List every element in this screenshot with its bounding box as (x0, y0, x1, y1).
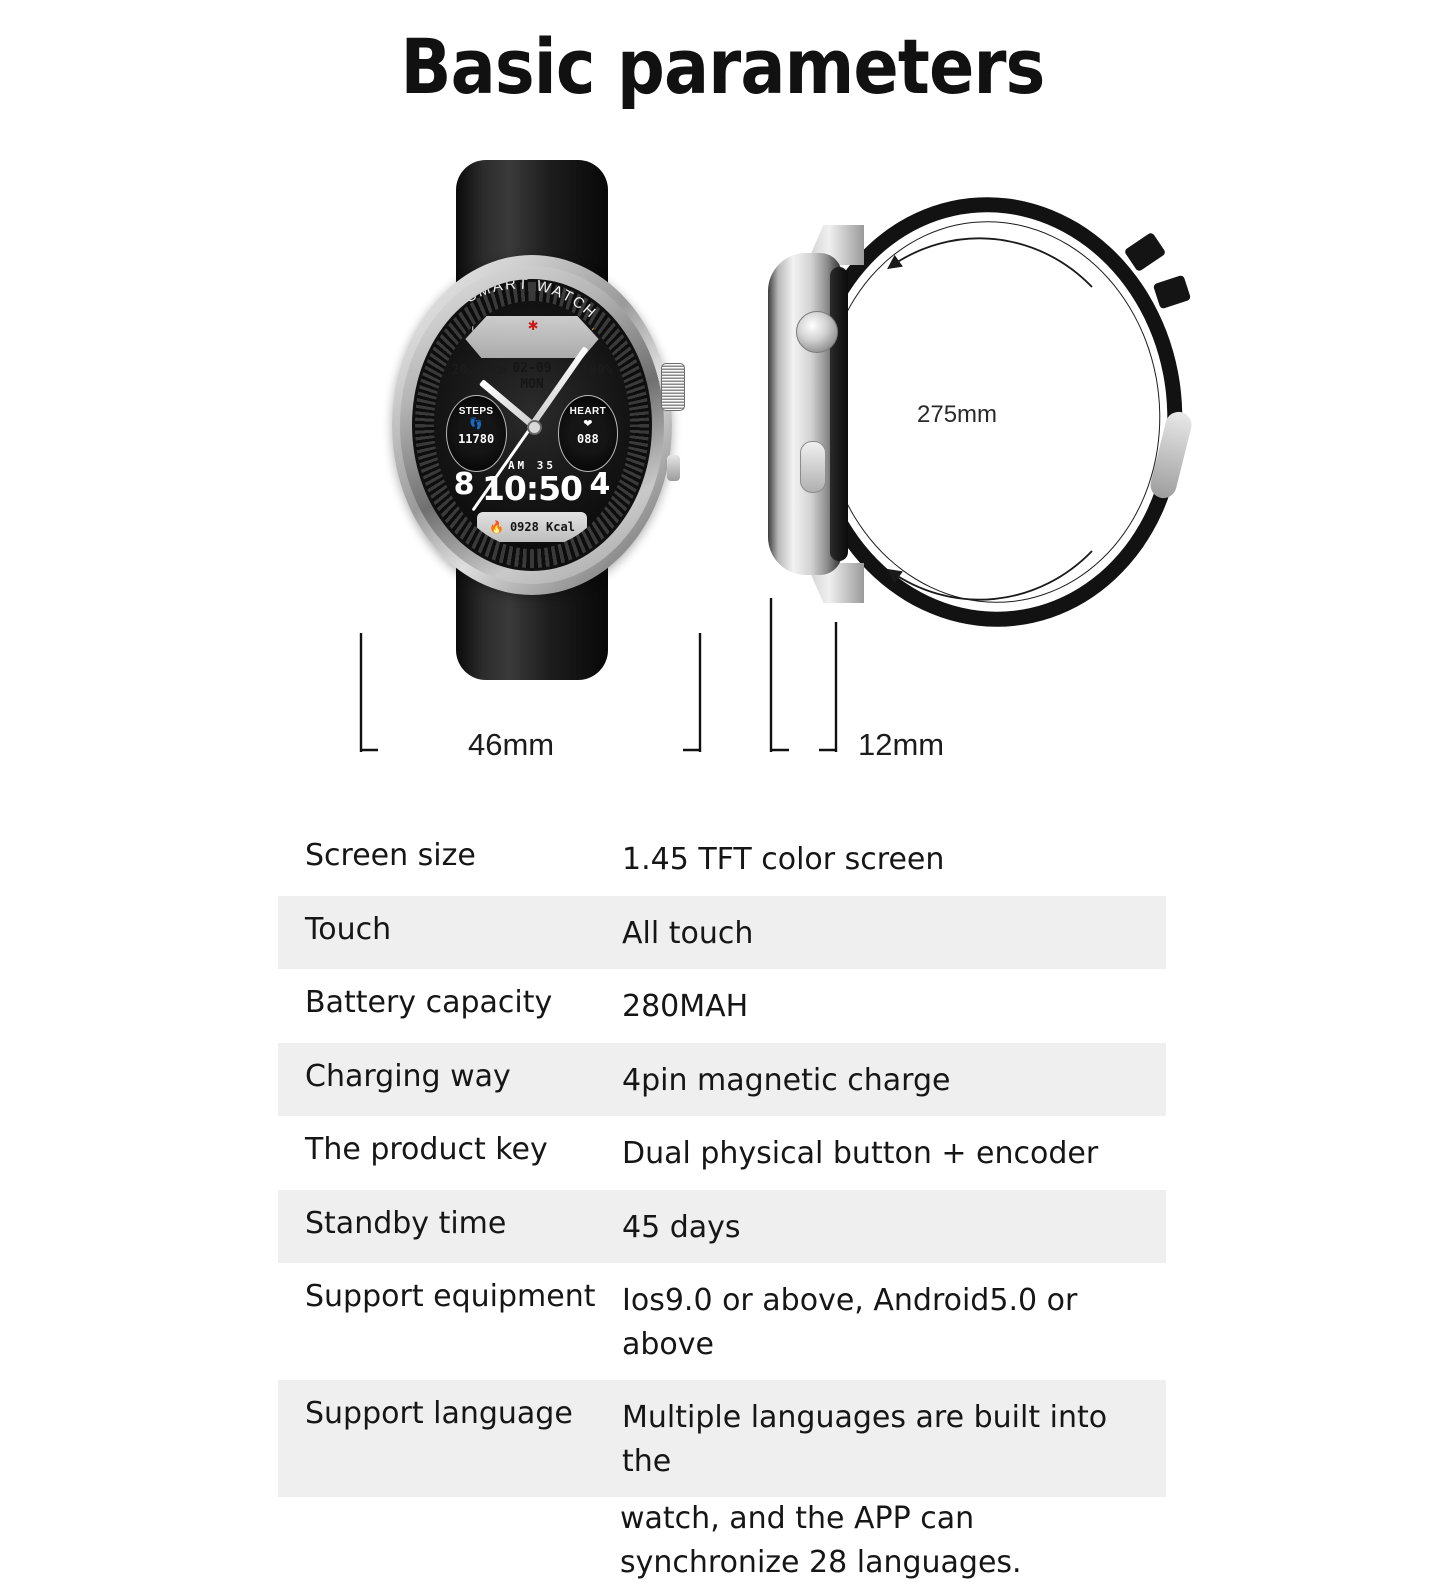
dial-date: 02-09 (434, 361, 630, 377)
dial-status-icons: ●❘ ✱ ⚡ (434, 318, 630, 334)
spec-label: The product key (278, 1116, 598, 1181)
spec-label: Touch (278, 896, 598, 961)
table-row: Standby time 45 days (278, 1190, 1166, 1264)
spec-label: Standby time (278, 1190, 598, 1255)
spec-value: 1.45 TFT color screen (598, 822, 1166, 896)
watch-side-case (768, 253, 842, 575)
spec-value: All touch (598, 896, 1166, 970)
table-row: Support language Multiple languages are … (278, 1380, 1166, 1497)
dial-date-block: 02-09 MON (434, 361, 630, 394)
steps-label: STEPS (447, 406, 506, 417)
spec-value: Ios9.0 or above, Android5.0 or above (598, 1263, 1166, 1380)
table-row: Battery capacity 280MAH (278, 969, 1166, 1043)
strap-keeper-upper (1124, 232, 1167, 273)
table-row: Charging way 4pin magnetic charge (278, 1043, 1166, 1117)
heart-label: HEART (559, 406, 618, 417)
dial-weekday: MON (434, 377, 630, 393)
side-push-button[interactable] (800, 441, 826, 493)
watch-side-view: 275mm (762, 195, 1222, 635)
spec-value: 45 days (598, 1190, 1166, 1264)
heart-icon: ❤ (559, 417, 618, 432)
side-crown[interactable] (796, 311, 838, 353)
dimension-label-thickness: 12mm (858, 727, 944, 763)
spec-label: Support equipment (278, 1263, 598, 1328)
watch-side-button[interactable] (667, 455, 680, 481)
steps-value: 11780 (447, 432, 506, 446)
spec-label: Screen size (278, 822, 598, 887)
specifications-table: Screen size 1.45 TFT color screen Touch … (278, 822, 1166, 1594)
table-row: Screen size 1.45 TFT color screen (278, 822, 1166, 896)
spec-label: Battery capacity (278, 969, 598, 1034)
spec-value: Multiple languages are built into the (598, 1380, 1166, 1497)
location-pin-icon: ●❘ (461, 318, 477, 334)
watch-front-view: SMART WATCH ●❘ ✱ ⚡ 20.5 km 100% 02-09 (392, 160, 672, 680)
table-row: Touch All touch (278, 896, 1166, 970)
spec-label: Charging way (278, 1043, 598, 1108)
time-main: 10:50 (434, 472, 630, 507)
strap-keeper-lower (1153, 275, 1191, 310)
spec-value-continued: watch, and the APP can synchronize 28 la… (278, 1497, 1166, 1594)
watch-crown[interactable] (661, 363, 685, 411)
spec-value: 4pin magnetic charge (598, 1043, 1166, 1117)
page-title: Basic parameters (87, 22, 1359, 111)
watch-bezel: SMART WATCH ●❘ ✱ ⚡ 20.5 km 100% 02-09 (412, 279, 652, 571)
calories-panel: 🔥 0928 Kcal (477, 512, 587, 542)
hands-pin (527, 420, 542, 435)
strap-length-label: 275mm (917, 401, 997, 429)
spec-value: Dual physical button + encoder (598, 1116, 1166, 1190)
watch-dial: ●❘ ✱ ⚡ 20.5 km 100% 02-09 MON STEPS 👣 11… (434, 301, 630, 549)
lightning-bolt-icon: ⚡ (589, 318, 603, 334)
spec-label: Support language (278, 1380, 598, 1445)
table-row: Support equipment Ios9.0 or above, Andro… (278, 1263, 1166, 1380)
dimension-label-width: 46mm (468, 727, 554, 763)
watch-case: SMART WATCH ●❘ ✱ ⚡ 20.5 km 100% 02-09 (392, 255, 672, 595)
footprint-icon: 👣 (447, 417, 506, 432)
heart-value: 088 (559, 432, 618, 446)
spec-value: 280MAH (598, 969, 1166, 1043)
flame-icon: 🔥 (489, 520, 504, 534)
dial-time-block: AM 35 10:50 (434, 459, 630, 507)
table-row: The product key Dual physical button + e… (278, 1116, 1166, 1190)
calories-value: 0928 Kcal (510, 520, 575, 534)
compass-marker-icon: ✱ (528, 318, 539, 334)
